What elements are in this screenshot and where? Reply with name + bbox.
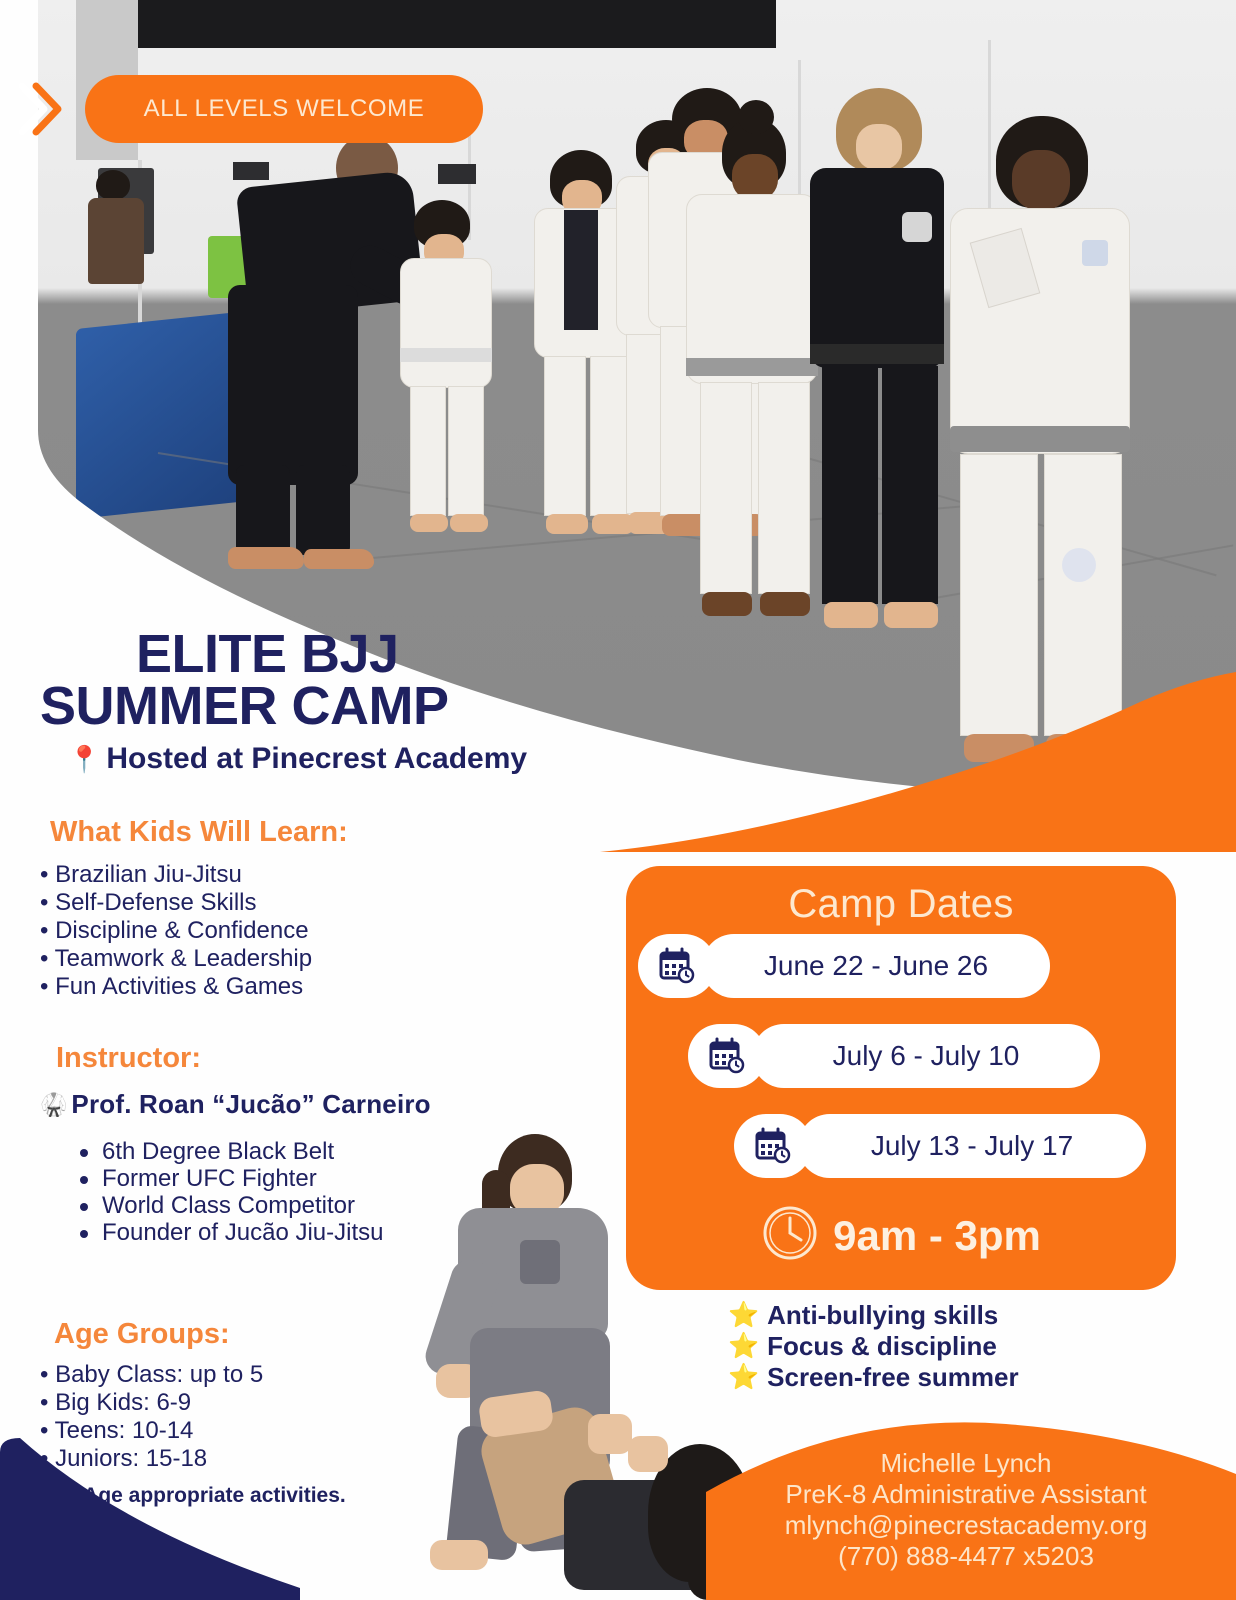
contact-info: Michelle Lynch PreK-8 Administrative Ass… xyxy=(706,1448,1226,1572)
list-item: ⭐ Screen-free summer xyxy=(728,1362,1019,1393)
contact-role: PreK-8 Administrative Assistant xyxy=(706,1479,1226,1510)
benefit-label: Anti-bullying skills xyxy=(767,1300,998,1331)
camp-date-row[interactable]: June 22 - June 26 xyxy=(638,934,1050,998)
camp-date-row[interactable]: July 6 - July 10 xyxy=(688,1024,1100,1088)
star-icon: ⭐ xyxy=(728,1334,759,1359)
student-figure xyxy=(686,118,826,638)
list-item: • Self-Defense Skills xyxy=(40,889,460,917)
age-groups-list: • Baby Class: up to 5 • Big Kids: 6-9 • … xyxy=(40,1361,440,1473)
list-item: • Baby Class: up to 5 xyxy=(40,1361,440,1389)
martial-arts-gi-icon: 🥋 xyxy=(40,1094,67,1116)
what-kids-will-learn-section: What Kids Will Learn: • Brazilian Jiu-Ji… xyxy=(40,816,460,1001)
list-item: • Fun Activities & Games xyxy=(40,973,460,1001)
list-item: ⭐ Focus & discipline xyxy=(728,1331,1019,1362)
location-row: 📍 Hosted at Pinecrest Academy xyxy=(68,742,660,776)
camp-date-pill[interactable]: June 22 - June 26 xyxy=(702,934,1050,998)
page-title-line2: SUMMER CAMP xyxy=(40,680,660,732)
learn-list: • Brazilian Jiu-Jitsu • Self-Defense Ski… xyxy=(40,861,460,1001)
age-groups-heading: Age Groups: xyxy=(54,1318,440,1351)
student-figure xyxy=(388,200,508,540)
ceiling-beam xyxy=(76,0,776,48)
clock-icon xyxy=(761,1204,819,1267)
student-figure-front xyxy=(950,116,1132,766)
contact-phone[interactable]: (770) 888-4477 x5203 xyxy=(706,1541,1226,1572)
benefits-list: ⭐ Anti-bullying skills ⭐ Focus & discipl… xyxy=(728,1300,1019,1393)
instructor-heading: Instructor: xyxy=(56,1042,470,1075)
camp-time-text: 9am - 3pm xyxy=(833,1212,1041,1260)
camp-date-pill[interactable]: July 13 - July 17 xyxy=(798,1114,1146,1178)
camp-time-row: 9am - 3pm xyxy=(626,1204,1176,1267)
double-chevron-right-icon xyxy=(18,80,64,138)
location-pin-icon: 📍 xyxy=(68,746,100,772)
contact-email[interactable]: mlynch@pinecrestacademy.org xyxy=(706,1510,1226,1541)
benefit-label: Screen-free summer xyxy=(767,1362,1018,1393)
camp-date-text: June 22 - June 26 xyxy=(764,950,988,982)
list-item: • Teens: 10-14 xyxy=(40,1417,440,1445)
all-levels-welcome-badge: ALL LEVELS WELCOME xyxy=(85,75,483,143)
age-note: *Age appropriate activities. xyxy=(75,1484,346,1508)
camp-date-pill[interactable]: July 6 - July 10 xyxy=(752,1024,1100,1088)
location-label: Hosted at Pinecrest Academy xyxy=(106,742,527,776)
calendar-clock-icon xyxy=(638,934,716,998)
camp-dates-card: Camp Dates June 22 - June 26 xyxy=(626,866,1176,1290)
star-icon: ⭐ xyxy=(728,1365,759,1390)
list-item: ⭐ Anti-bullying skills xyxy=(728,1300,1019,1331)
list-item: • Discipline & Confidence xyxy=(40,917,460,945)
list-item: • Big Kids: 6-9 xyxy=(40,1389,440,1417)
badge-label: ALL LEVELS WELCOME xyxy=(144,95,425,123)
camp-date-text: July 13 - July 17 xyxy=(871,1130,1073,1162)
list-item: • Teamwork & Leadership xyxy=(40,945,460,973)
age-groups-section: Age Groups: • Baby Class: up to 5 • Big … xyxy=(40,1318,440,1473)
calendar-clock-icon xyxy=(734,1114,812,1178)
star-icon: ⭐ xyxy=(728,1303,759,1328)
camp-date-row[interactable]: July 13 - July 17 xyxy=(734,1114,1146,1178)
instructor-name: Prof. Roan “Jucão” Carneiro xyxy=(71,1089,430,1120)
student-figure-dark-gi xyxy=(810,88,950,648)
camp-date-text: July 6 - July 10 xyxy=(833,1040,1020,1072)
calendar-clock-icon xyxy=(688,1024,766,1088)
instructor-name-row: 🥋 Prof. Roan “Jucão” Carneiro xyxy=(40,1089,470,1120)
list-item: • Brazilian Jiu-Jitsu xyxy=(40,861,460,889)
page-title-line1: ELITE BJJ xyxy=(136,628,660,680)
contact-name: Michelle Lynch xyxy=(706,1448,1226,1479)
title-block: ELITE BJJ SUMMER CAMP 📍 Hosted at Pinecr… xyxy=(40,628,660,776)
benefit-label: Focus & discipline xyxy=(767,1331,997,1362)
list-item: • Juniors: 15-18 xyxy=(40,1445,440,1473)
learn-heading: What Kids Will Learn: xyxy=(50,816,460,849)
camp-dates-heading: Camp Dates xyxy=(626,866,1176,927)
